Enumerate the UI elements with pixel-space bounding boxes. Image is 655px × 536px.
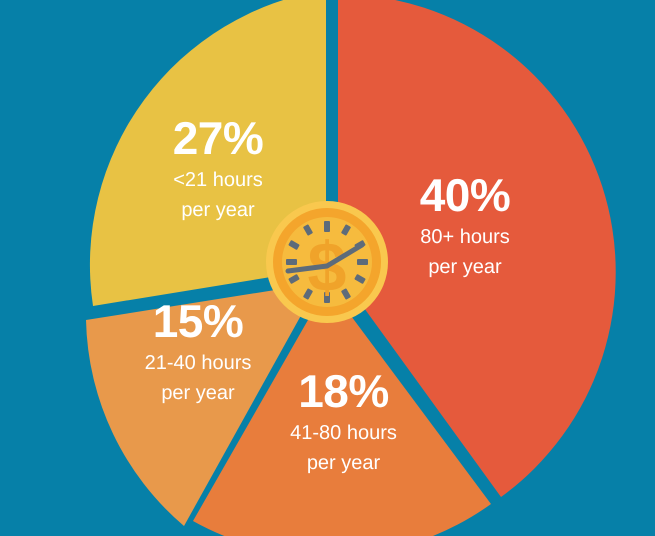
pie-chart-infographic: $ 40% 80+ hours per year 27% <21 hours p…	[0, 0, 655, 536]
clock-dollar-icon: $	[266, 201, 388, 323]
pie-chart-graphic: $	[0, 0, 655, 536]
